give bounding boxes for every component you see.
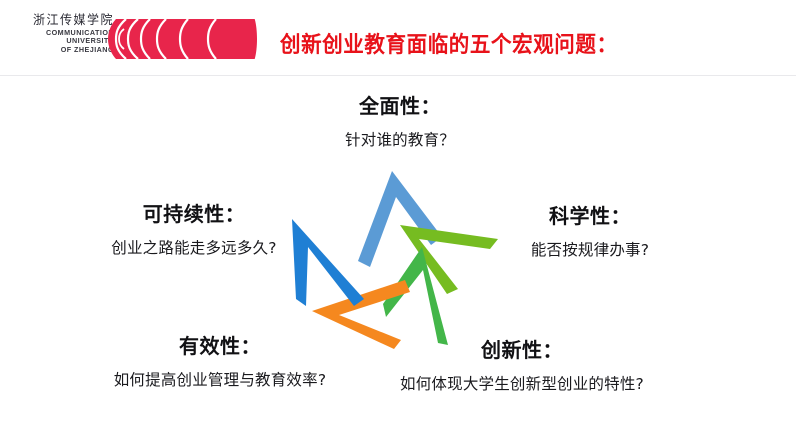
pinwheel-star-icon bbox=[288, 163, 510, 358]
label-group-innovativeness: 创新性： 如何体现大学生创新型创业的特性? bbox=[372, 334, 672, 394]
label-group-sustainability: 可持续性： 创业之路能走多远多久? bbox=[78, 198, 310, 258]
header-divider bbox=[0, 75, 796, 76]
label-title-innovativeness: 创新性： bbox=[372, 334, 672, 363]
logo-name-chinese: 浙江传媒学院 bbox=[33, 14, 114, 28]
label-group-comprehensiveness: 全面性： 针对谁的教育？ bbox=[300, 90, 500, 150]
red-ripple-banner-icon bbox=[108, 17, 260, 61]
label-title-comprehensiveness: 全面性： bbox=[300, 90, 500, 119]
label-question-innovativeness: 如何体现大学生创新型创业的特性? bbox=[372, 372, 672, 394]
label-title-effectiveness: 有效性： bbox=[74, 330, 366, 359]
label-title-scientificity: 科学性： bbox=[490, 200, 690, 229]
label-question-effectiveness: 如何提高创业管理与教育效率? bbox=[74, 368, 366, 390]
logo-name-english: COMMUNICATION UNIVERSITY OF ZHEJIANG bbox=[46, 29, 114, 54]
page-title: 创新创业教育面临的五个宏观问题： bbox=[280, 26, 618, 58]
slide-canvas: 浙江传媒学院 COMMUNICATION UNIVERSITY OF ZHEJI… bbox=[0, 0, 796, 446]
label-question-comprehensiveness: 针对谁的教育？ bbox=[300, 128, 500, 150]
slide-header: 浙江传媒学院 COMMUNICATION UNIVERSITY OF ZHEJI… bbox=[0, 0, 796, 76]
label-question-scientificity: 能否按规律办事? bbox=[490, 238, 690, 260]
label-group-scientificity: 科学性： 能否按规律办事? bbox=[490, 200, 690, 260]
label-question-sustainability: 创业之路能走多远多久? bbox=[78, 236, 310, 258]
label-title-sustainability: 可持续性： bbox=[78, 198, 310, 227]
label-group-effectiveness: 有效性： 如何提高创业管理与教育效率? bbox=[74, 330, 366, 390]
logo-en-line-3: OF ZHEJIANG bbox=[46, 46, 114, 54]
university-logo: 浙江传媒学院 COMMUNICATION UNIVERSITY OF ZHEJI… bbox=[14, 14, 114, 64]
